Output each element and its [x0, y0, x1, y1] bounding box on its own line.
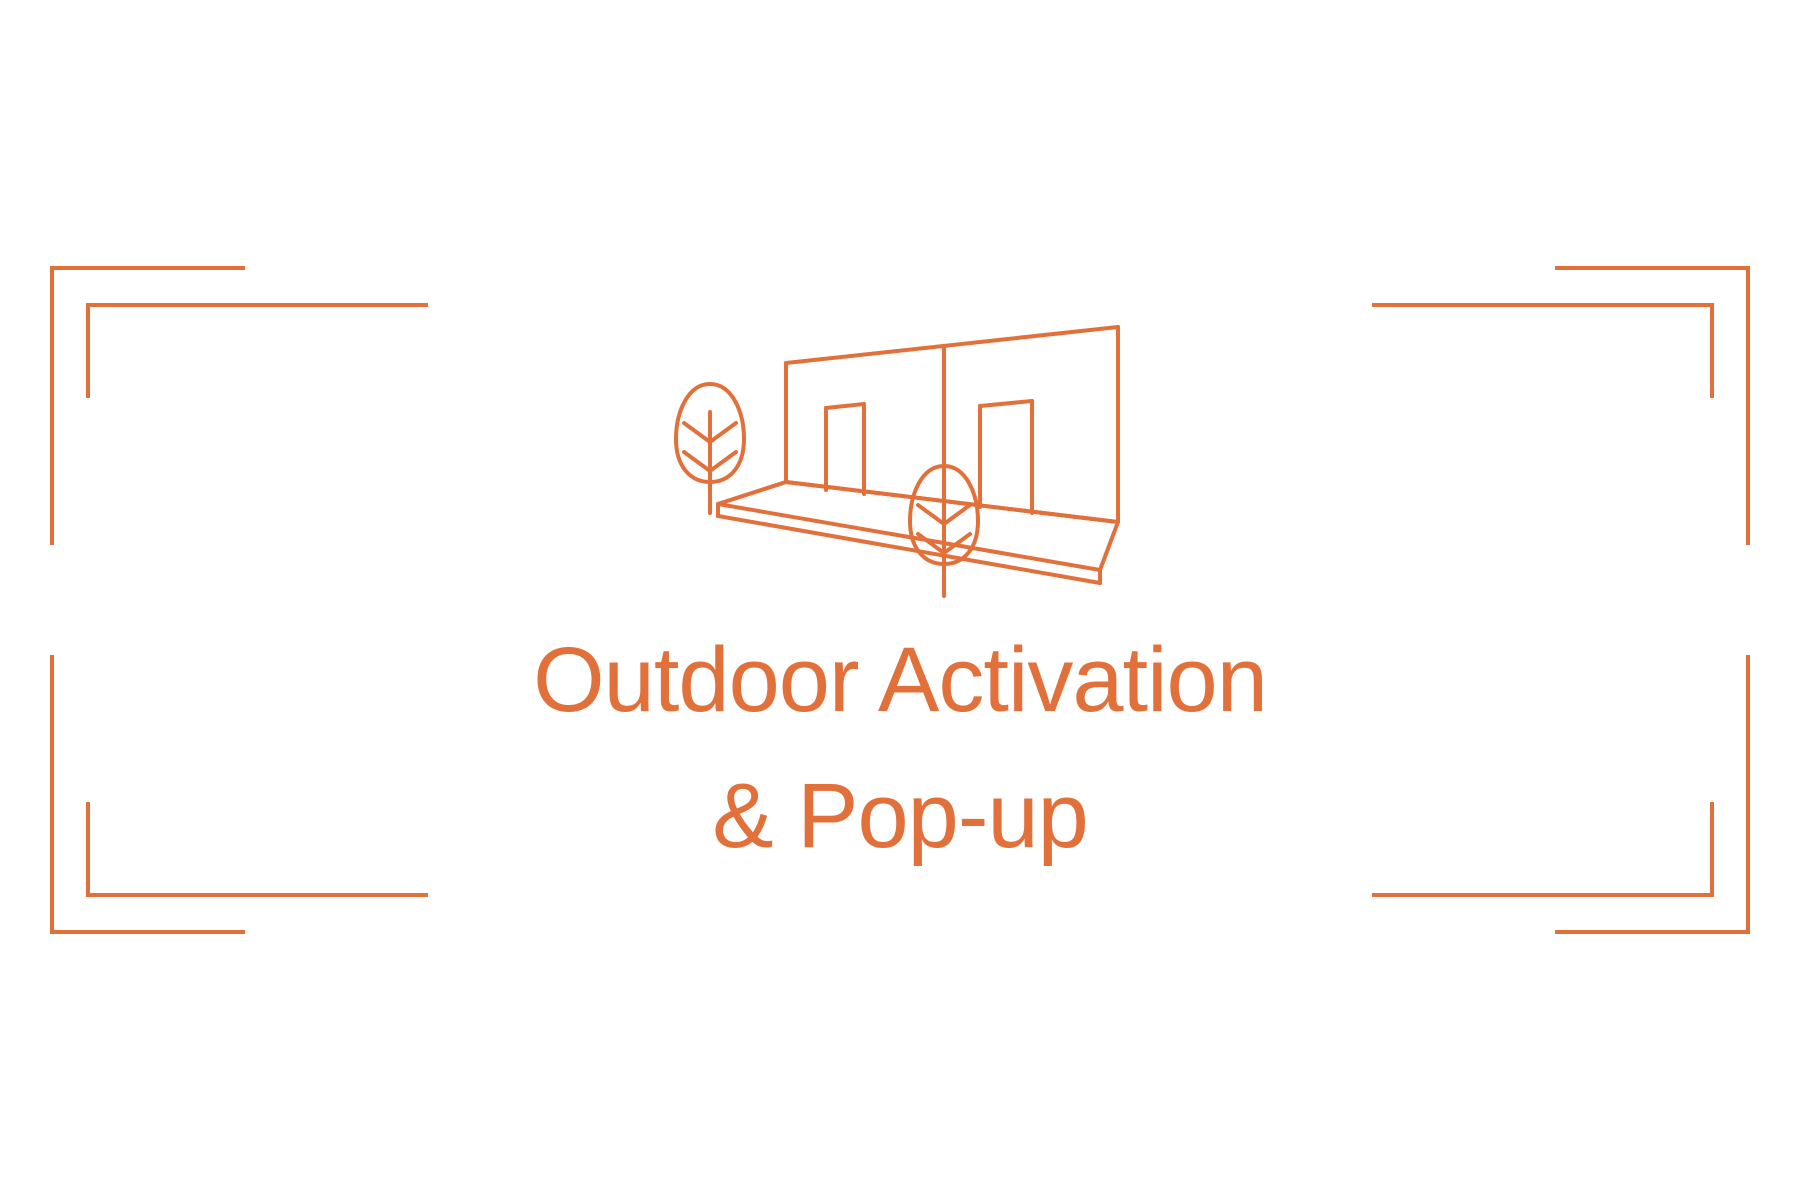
- bracket-inner-top-right: [1372, 305, 1712, 398]
- bracket-inner-top-left: [88, 305, 428, 398]
- tree-left-branch-lower-right: [710, 452, 736, 471]
- bracket-outer-top-left: [52, 268, 245, 545]
- door-right-head: [980, 401, 1032, 406]
- deck-back-left-connector: [718, 482, 786, 504]
- tree-right-branch-upper-right: [944, 505, 970, 524]
- page-title-line-2: & Pop-up: [0, 748, 1800, 884]
- outdoor-pavilion-illustration: [640, 300, 1160, 620]
- bracket-outer-top-right: [1555, 268, 1748, 545]
- door-left-head: [826, 404, 864, 408]
- door-opening-left: [826, 404, 864, 494]
- door-opening-right: [980, 401, 1032, 513]
- corner-top-right: [1372, 268, 1748, 545]
- tree-right-branch-upper-left: [918, 505, 944, 524]
- tree-left: [676, 384, 744, 513]
- slide-canvas: Outdoor Activation & Pop-up: [0, 0, 1800, 1200]
- tree-left-branch-upper-right: [710, 423, 736, 442]
- corner-top-left: [52, 268, 428, 545]
- title-block: Outdoor Activation & Pop-up: [0, 612, 1800, 884]
- tree-left-branch-upper-left: [684, 423, 710, 442]
- back-wall: [786, 327, 1118, 522]
- wall-edge-top: [786, 327, 1118, 363]
- tree-left-branch-lower-left: [684, 452, 710, 471]
- page-title-line-1: Outdoor Activation: [0, 612, 1800, 748]
